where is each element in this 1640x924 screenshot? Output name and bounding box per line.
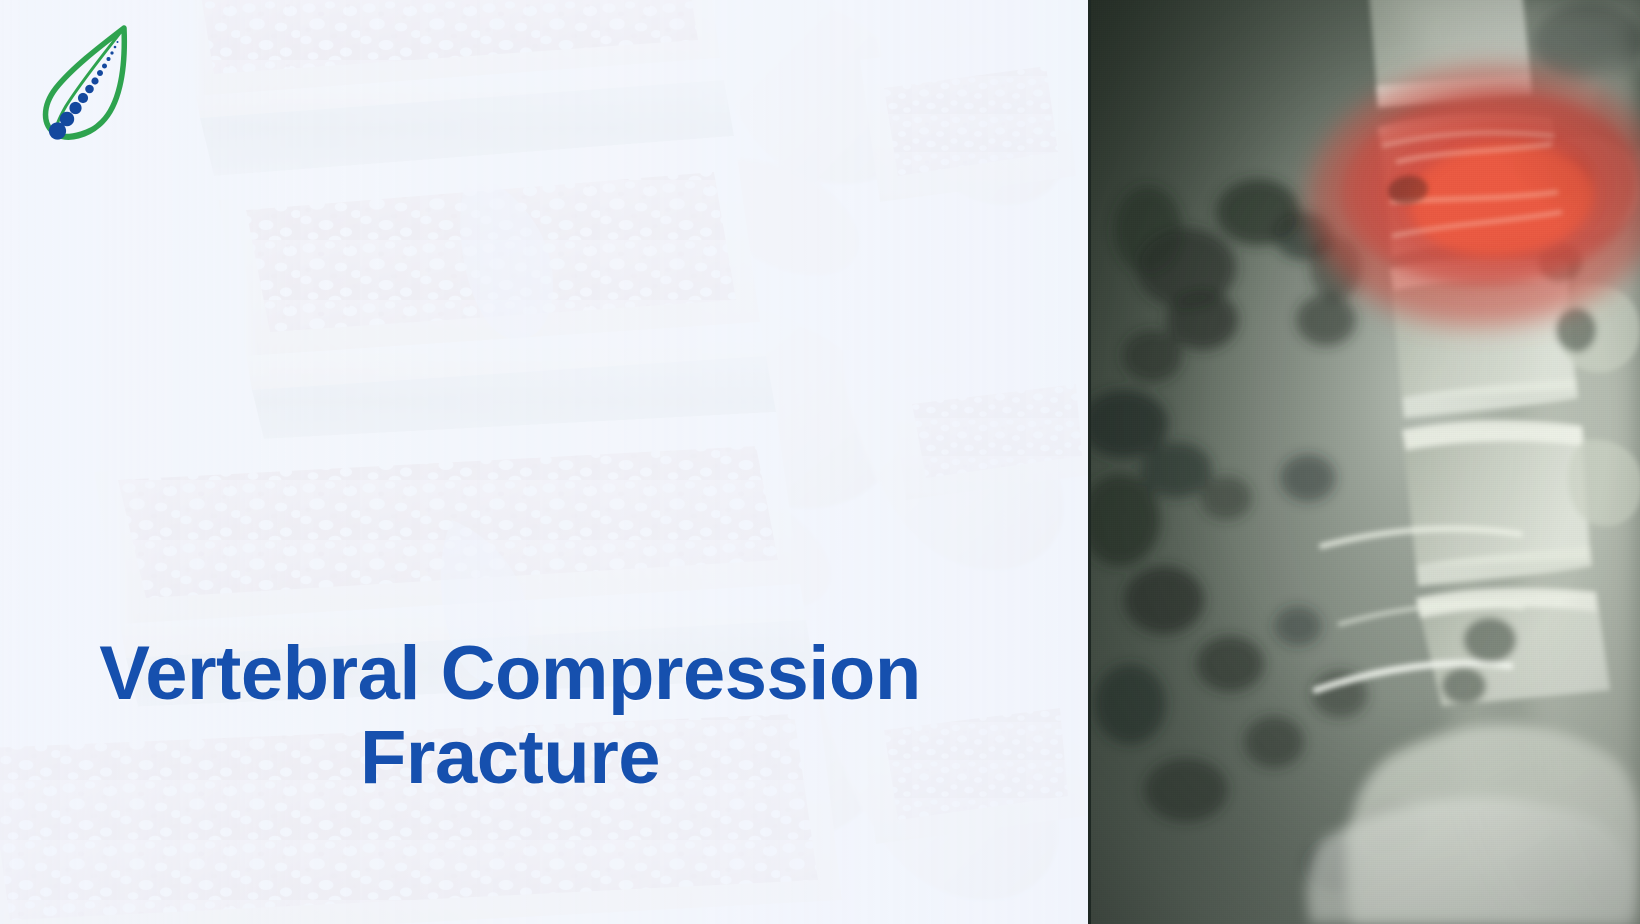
page-title: Vertebral Compression Fracture bbox=[0, 632, 1020, 799]
spine-dots bbox=[49, 41, 119, 140]
title-line-1: Vertebral Compression bbox=[0, 632, 1020, 716]
lumbar-spine-xray bbox=[1090, 0, 1640, 924]
title-line-2: Fracture bbox=[0, 716, 1020, 800]
panel-divider bbox=[1088, 0, 1091, 924]
left-illustration-panel: Vertebral Compression Fracture bbox=[0, 0, 1090, 924]
banner-canvas: Vertebral Compression Fracture bbox=[0, 0, 1640, 924]
leaf-spine-logo[interactable] bbox=[36, 22, 140, 148]
